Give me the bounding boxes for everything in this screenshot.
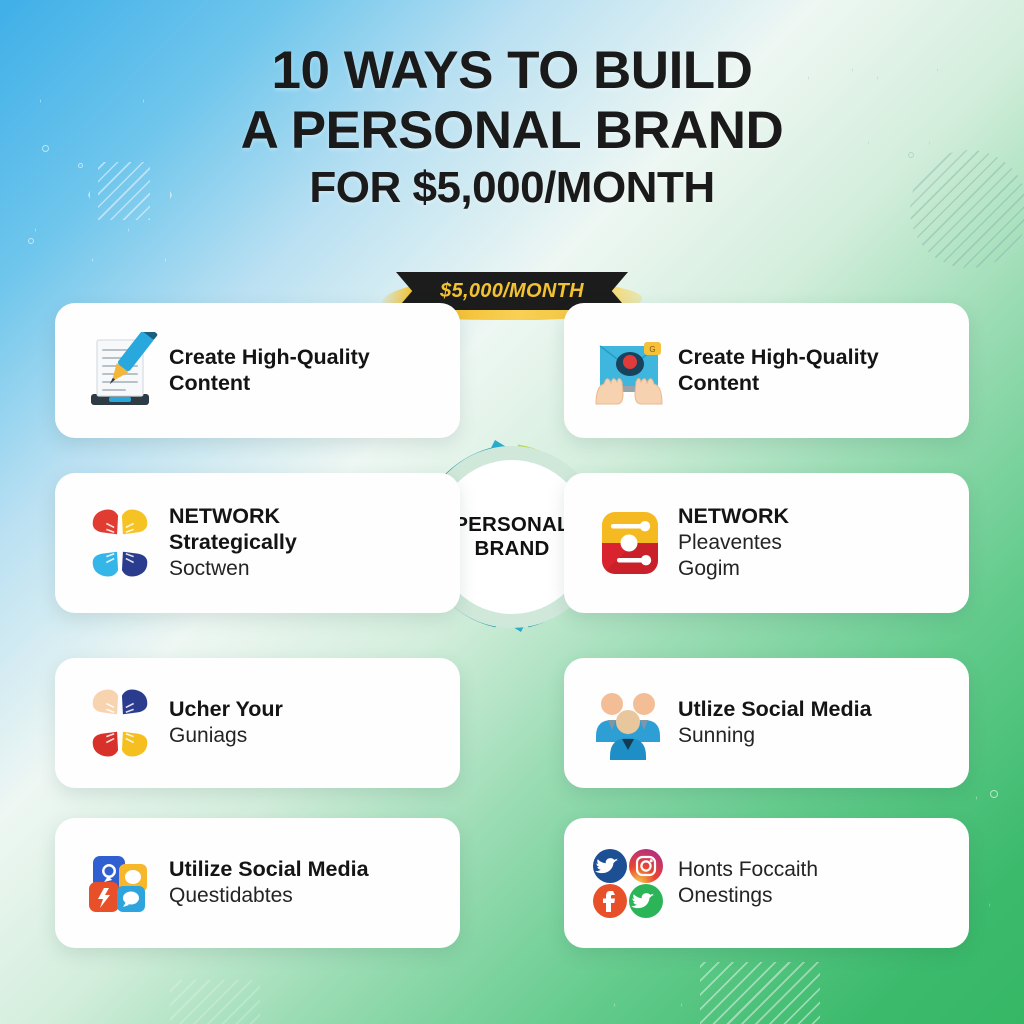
card-title-line-2: Onestings — [678, 883, 818, 909]
card-subtitle-line-1: Pleaventes — [678, 530, 789, 556]
slider-settings-icon — [586, 504, 672, 582]
card-subtitle: Guniags — [169, 723, 283, 749]
card-network-pleaventes-gogim[interactable]: NETWORK Pleaventes Gogim — [564, 473, 969, 613]
svg-text:G: G — [649, 345, 655, 354]
card-create-high-quality-content-left[interactable]: Create High-Quality Content — [55, 303, 460, 438]
social-network-icons — [586, 844, 672, 922]
card-text: NETWORK Pleaventes Gogim — [672, 504, 801, 582]
card-title-line-1: Create High-Quality — [678, 345, 879, 371]
card-title: Utlize Social Media — [678, 697, 872, 723]
card-text: Create High-Quality Content — [163, 345, 382, 397]
title-line-2: A PERSONAL BRAND — [0, 104, 1024, 158]
card-create-high-quality-content-right[interactable]: G Create High-Quality Content — [564, 303, 969, 438]
card-text: NETWORK Strategically Soctwen — [163, 504, 309, 582]
card-title-line-2: Content — [678, 371, 879, 397]
hexagon-decoration — [614, 966, 682, 1024]
card-title-line-1: NETWORK — [169, 504, 297, 530]
card-title-line-1: Create High-Quality — [169, 345, 370, 371]
diagonal-stripes-decoration — [700, 962, 820, 1024]
card-title-line-2: Content — [169, 371, 370, 397]
document-pen-icon — [77, 332, 163, 410]
handshake-circle-icon — [77, 684, 163, 762]
card-title-line-1: NETWORK — [678, 504, 789, 530]
badge-label: $5,000/MONTH — [440, 280, 584, 303]
card-subtitle-line-2: Gogim — [678, 556, 789, 582]
title-line-3: FOR $5,000/MONTH — [0, 166, 1024, 211]
hexagon-decoration — [92, 218, 166, 302]
header: 10 WAYS TO BUILD A PERSONAL BRAND FOR $5… — [0, 44, 1024, 211]
hub-line-1: PERSONAL — [454, 513, 570, 537]
people-group-icon — [586, 684, 672, 762]
card-subtitle: Soctwen — [169, 556, 297, 582]
card-text: Ucher Your Guniags — [163, 697, 295, 749]
dot-decoration — [990, 790, 998, 798]
title-line-1: 10 WAYS TO BUILD — [0, 44, 1024, 98]
card-ucher-your-guniags[interactable]: Ucher Your Guniags — [55, 658, 460, 788]
app-tiles-icon — [77, 844, 163, 922]
card-text: Utilize Social Media Questidabtes — [163, 857, 381, 909]
card-utlize-social-media-sunning[interactable]: Utlize Social Media Sunning — [564, 658, 969, 788]
card-honts-foccaith-onestings[interactable]: Honts Foccaith Onestings — [564, 818, 969, 948]
dot-decoration — [28, 238, 34, 244]
card-subtitle: Sunning — [678, 723, 872, 749]
hexagon-decoration — [976, 756, 1024, 840]
tablet-hands-icon: G — [586, 332, 672, 410]
card-text: Honts Foccaith Onestings — [672, 857, 830, 910]
handshake-circle-icon — [77, 504, 163, 582]
hub-line-2: BRAND — [474, 537, 549, 561]
diagonal-stripes-decoration — [170, 980, 260, 1024]
card-title-line-1: Honts Foccaith — [678, 857, 818, 883]
card-text: Create High-Quality Content — [672, 345, 891, 397]
card-text: Utlize Social Media Sunning — [672, 697, 884, 749]
infographic-canvas: 10 WAYS TO BUILD A PERSONAL BRAND FOR $5… — [0, 0, 1024, 1024]
card-title: Utilize Social Media — [169, 857, 369, 883]
card-subtitle: Questidabtes — [169, 883, 369, 909]
card-title-line-2: Strategically — [169, 530, 297, 556]
card-network-strategically[interactable]: NETWORK Strategically Soctwen — [55, 473, 460, 613]
card-title: Ucher Your — [169, 697, 283, 723]
card-utilize-social-media-questidabtes[interactable]: Utilize Social Media Questidabtes — [55, 818, 460, 948]
